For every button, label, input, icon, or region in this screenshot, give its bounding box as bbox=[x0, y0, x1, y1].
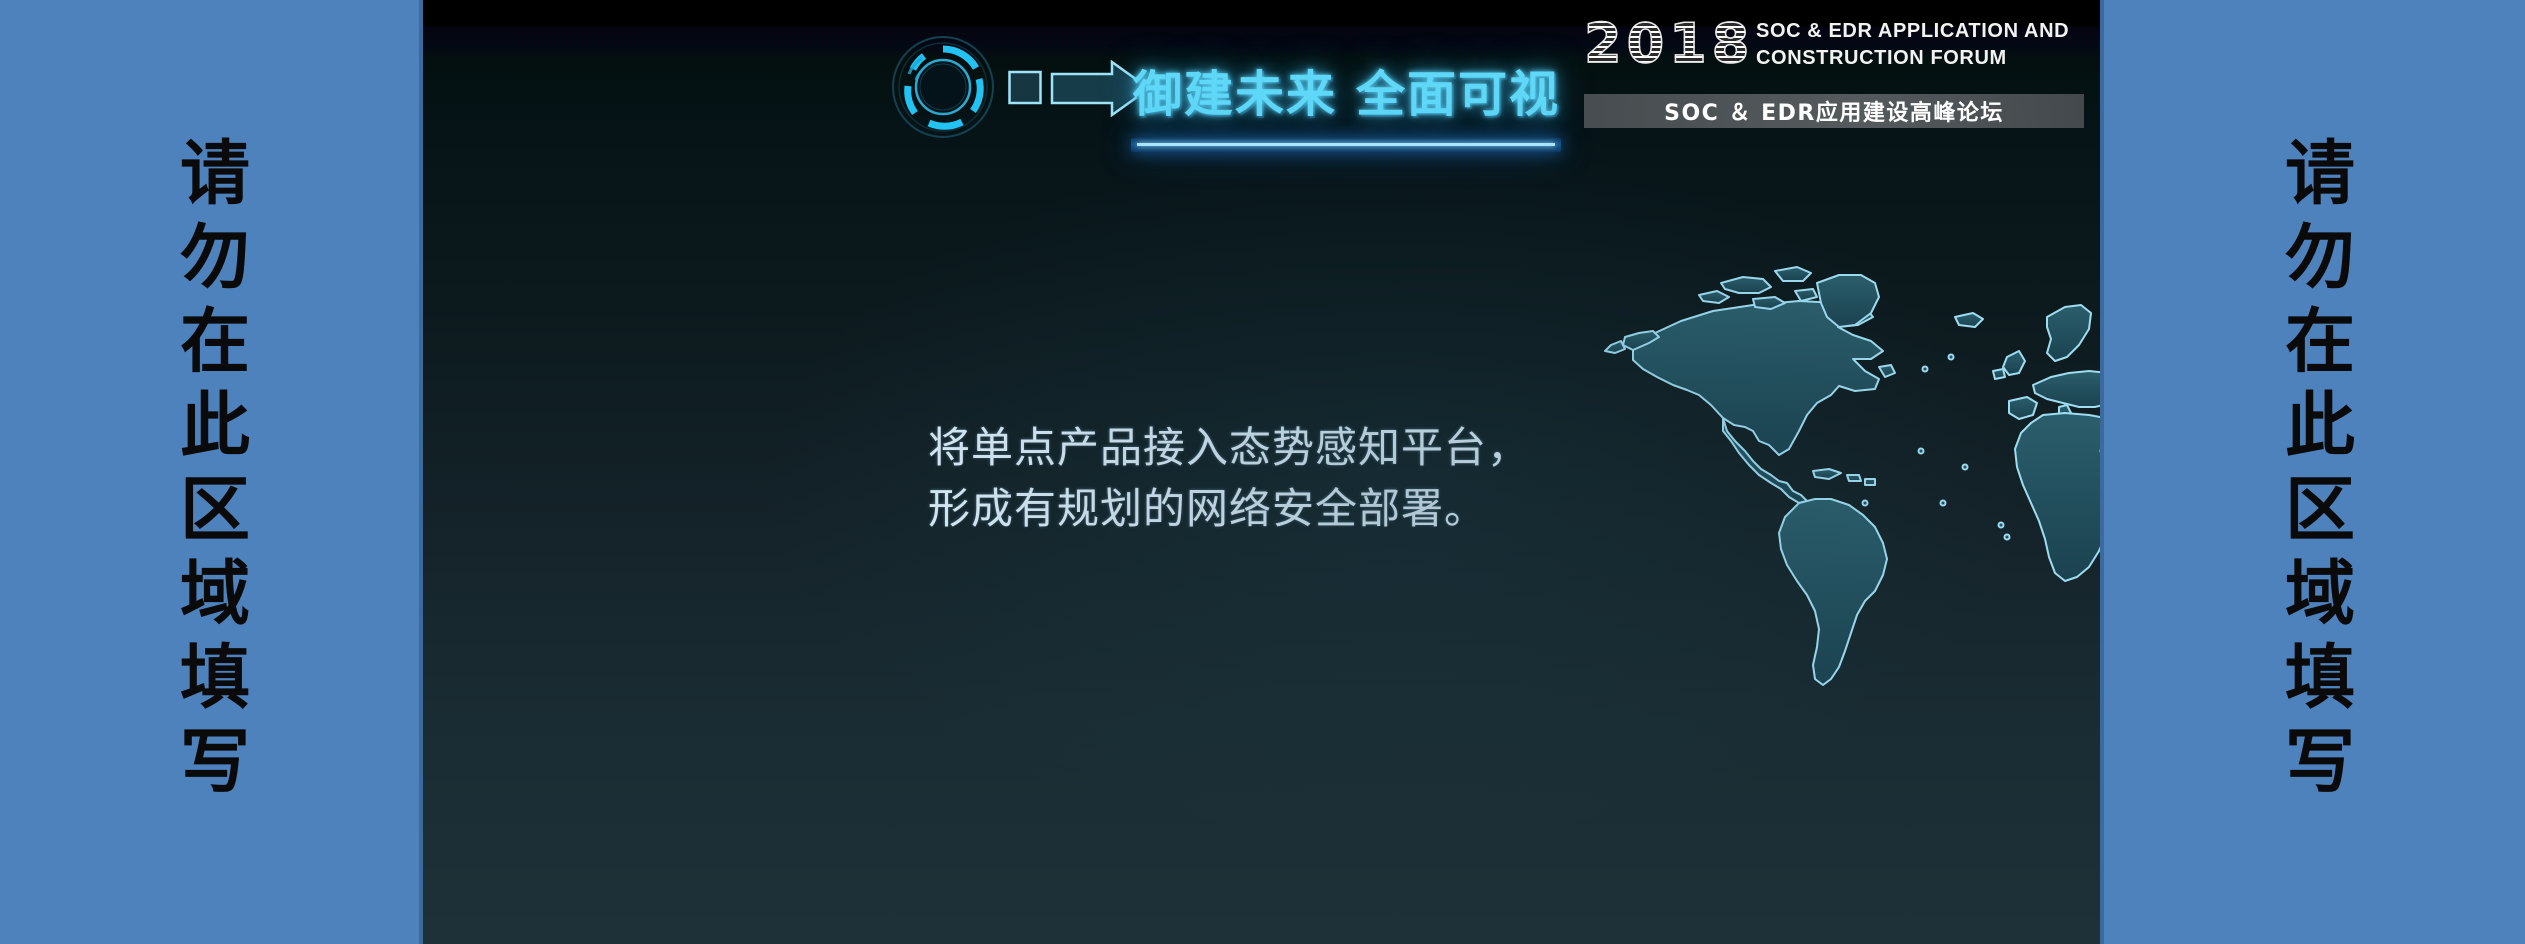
body-text-line1: 将单点产品接入态势感知平台， bbox=[928, 418, 1530, 479]
hud-circle-icon bbox=[890, 34, 996, 140]
body-text-line2: 形成有规划的网络安全部署。 bbox=[928, 479, 1530, 540]
right-watermark-text: 请勿在此区域填写 bbox=[2280, 136, 2350, 808]
world-map bbox=[1603, 255, 2100, 695]
page-title: 御建未来 全面可视 bbox=[1133, 55, 1560, 126]
slide-content-area: 御建未来 全面可视 2018 SOC & EDR APPLICATION AND… bbox=[423, 0, 2100, 944]
logo-english-line2: CONSTRUCTION FORUM bbox=[1756, 45, 2086, 72]
logo-english: SOC & EDR APPLICATION AND CONSTRUCTION F… bbox=[1756, 18, 2086, 72]
body-text: 将单点产品接入态势感知平台， 形成有规划的网络安全部署。 bbox=[928, 418, 1530, 540]
title-underline bbox=[1131, 138, 1561, 152]
logo-chinese-band: SOC ＆ EDR应用建设高峰论坛 bbox=[1584, 94, 2084, 128]
logo-english-line1: SOC & EDR APPLICATION AND bbox=[1756, 18, 2086, 45]
forum-logo-block: 2018 SOC & EDR APPLICATION AND CONSTRUCT… bbox=[1584, 14, 2084, 124]
right-watermark-panel: 请勿在此区域填写 bbox=[2100, 0, 2525, 944]
slide-canvas: 请勿在此区域填写 请勿在此区域填写 bbox=[0, 0, 2525, 944]
left-watermark-text: 请勿在此区域填写 bbox=[175, 136, 245, 808]
logo-chinese-text: SOC ＆ EDR应用建设高峰论坛 bbox=[1664, 95, 2004, 127]
logo-year: 2018 bbox=[1584, 16, 1754, 73]
arrow-right-icon bbox=[1008, 58, 1153, 120]
left-watermark-panel: 请勿在此区域填写 bbox=[0, 0, 423, 944]
